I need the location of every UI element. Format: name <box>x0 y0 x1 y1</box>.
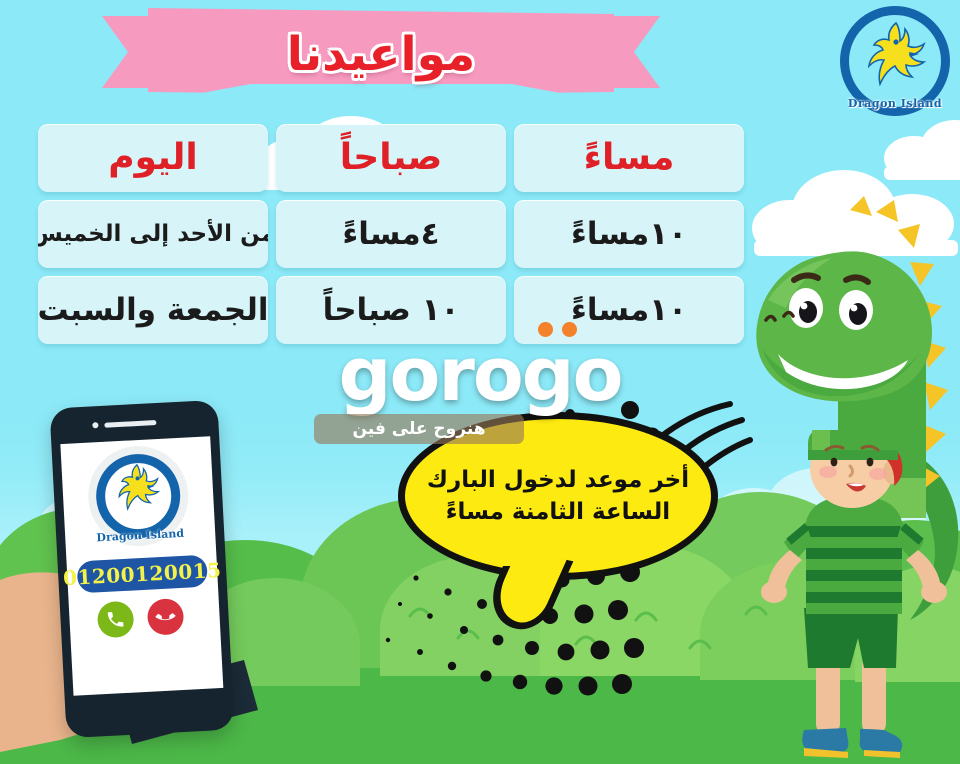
table-header-row: مساءً صباحاً اليوم <box>38 124 744 192</box>
header-morning-label: صباحاً <box>340 140 442 176</box>
header-evening-label: مساءً <box>584 140 675 176</box>
title-ribbon: مواعيدنا <box>148 8 614 112</box>
table-row: ١٠مساءً ٤مساءً من الأحد إلى الخميس <box>38 200 744 268</box>
watermark-text: gorogo <box>310 338 650 412</box>
notice-line-2: الساعة الثامنة مساءً <box>446 498 670 526</box>
dragon-head-icon <box>112 461 165 518</box>
phone-camera-icon <box>92 422 98 428</box>
phone-accept-icon[interactable] <box>97 601 135 639</box>
watermark-dot-icon <box>562 322 577 337</box>
notice-line-1: أخر موعد لدخول البارك <box>427 466 689 494</box>
schedule-table: مساءً صباحاً اليوم ١٠مساءً ٤مساءً من الأ… <box>38 124 744 344</box>
poster-canvas: Dragon Island مواعيدنا مساءً صباحاً اليو… <box>0 0 960 764</box>
cell-morning: ٤مساءً <box>276 200 506 268</box>
phone-screen: Dragon Island 01200120015 <box>60 436 223 696</box>
row2-morning-value: ١٠ صباحاً <box>323 295 460 326</box>
row2-day-value: الجمعة والسبت <box>38 295 268 326</box>
phone-caller-logo: Dragon Island <box>86 444 191 549</box>
header-day-label: اليوم <box>108 140 198 176</box>
notice-text: أخر موعد لدخول البارك الساعة الثامنة مسا… <box>398 412 718 580</box>
page-title: مواعيدنا <box>148 14 614 94</box>
row1-day-value: من الأحد إلى الخميس <box>38 223 268 246</box>
header-cell-day: اليوم <box>38 124 268 192</box>
brand-logo[interactable]: Dragon Island <box>840 6 950 116</box>
phone-logo-wordmark: Dragon Island <box>90 526 191 544</box>
boy-mascot-icon <box>760 430 950 764</box>
notice-speech-bubble: أخر موعد لدخول البارك الساعة الثامنة مسا… <box>398 412 728 627</box>
cell-day: من الأحد إلى الخميس <box>38 200 268 268</box>
cell-day: الجمعة والسبت <box>38 276 268 344</box>
phone-number-display: 01200120015 <box>77 555 208 594</box>
logo-wordmark: Dragon Island <box>840 97 950 110</box>
row1-morning-value: ٤مساءً <box>342 219 439 250</box>
phone-mockup: Dragon Island 01200120015 <box>49 400 234 738</box>
phone-speaker-icon <box>104 420 156 428</box>
row2-evening-value: ١٠مساءً <box>571 295 687 326</box>
row1-evening-value: ١٠مساءً <box>571 219 687 250</box>
phone-decline-icon[interactable] <box>147 598 185 636</box>
cell-evening: ١٠مساءً <box>514 200 744 268</box>
header-cell-morning: صباحاً <box>276 124 506 192</box>
dragon-head-icon <box>862 20 932 94</box>
header-cell-evening: مساءً <box>514 124 744 192</box>
watermark-dot-icon <box>538 322 553 337</box>
